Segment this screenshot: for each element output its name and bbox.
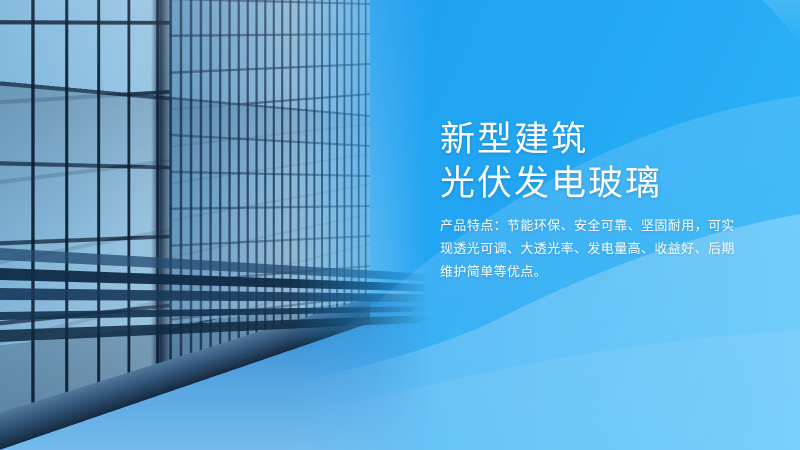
page-title: 新型建筑 光伏发电玻璃	[440, 118, 780, 206]
headline-line-1: 新型建筑	[440, 118, 780, 162]
product-features-text: 产品特点：节能环保、安全可靠、坚固耐用，可实现透光可调、大透光率、发电量高、收益…	[440, 214, 740, 283]
canopy-slabs	[0, 0, 430, 450]
headline-line-2: 光伏发电玻璃	[440, 162, 780, 206]
building-photo	[0, 0, 430, 450]
promo-banner: 新型建筑 光伏发电玻璃 产品特点：节能环保、安全可靠、坚固耐用，可实现透光可调、…	[0, 0, 800, 450]
wave-top-right	[762, 0, 800, 46]
